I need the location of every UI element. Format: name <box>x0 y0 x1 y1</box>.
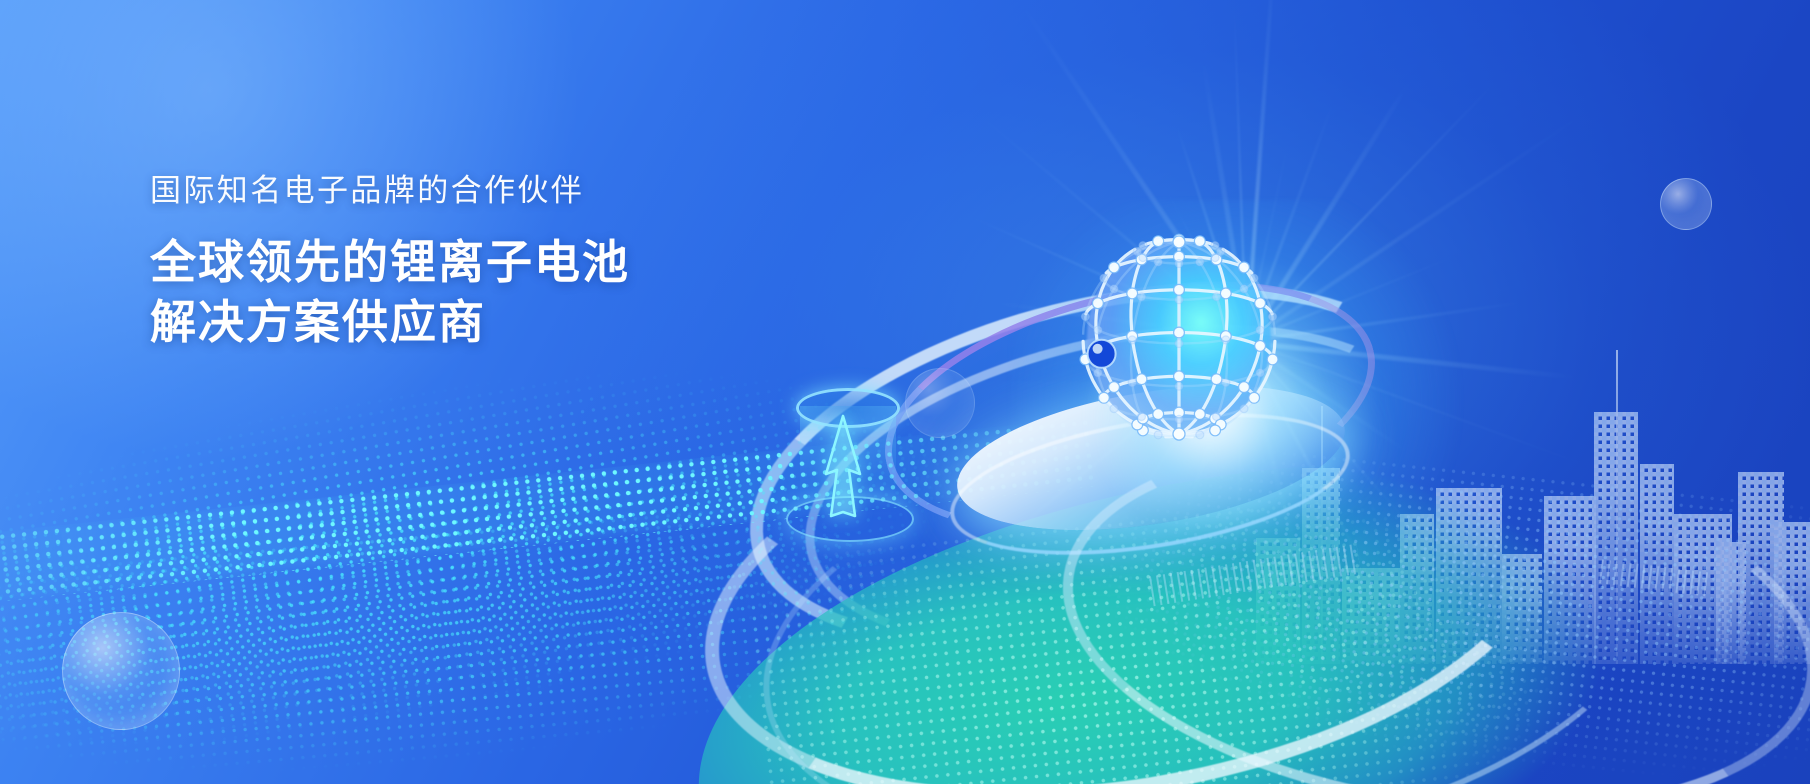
arrow-cursor-icon <box>822 412 864 522</box>
cursor-portal-icon <box>788 388 912 538</box>
headline-line-1: 全球领先的锂离子电池 <box>150 233 850 293</box>
eyebrow-text: 国际知名电子品牌的合作伙伴 <box>150 172 850 211</box>
bubble-icon <box>1660 178 1712 230</box>
hero-copy: 国际知名电子品牌的合作伙伴 全球领先的锂离子电池 解决方案供应商 <box>150 172 850 352</box>
hero-banner: 国际知名电子品牌的合作伙伴 全球领先的锂离子电池 解决方案供应商 <box>0 0 1810 784</box>
page-title: 全球领先的锂离子电池 解决方案供应商 <box>150 233 850 353</box>
bubble-icon <box>905 368 975 438</box>
bubble-icon <box>62 612 180 730</box>
headline-line-2: 解决方案供应商 <box>150 293 850 353</box>
